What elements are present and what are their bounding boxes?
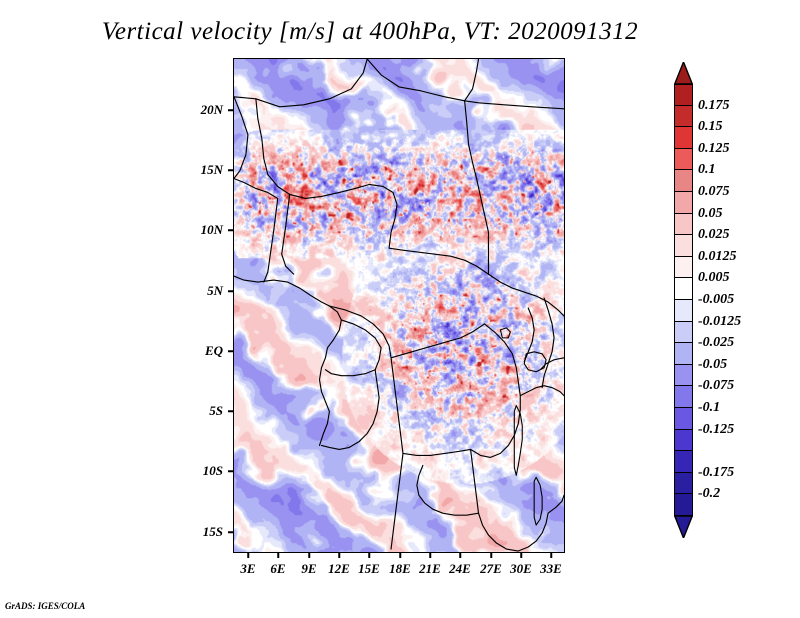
x-tick-label-12e: 12E [328, 561, 350, 577]
country-borders-overlay [234, 59, 564, 552]
colorbar-band [674, 106, 693, 128]
x-tick-label-24e: 24E [449, 561, 471, 577]
colorbar-band [674, 170, 693, 192]
colorbar-band [674, 408, 693, 430]
colorbar-band [674, 300, 693, 322]
x-tick-label-33e: 33E [540, 561, 562, 577]
y-tick-mark [228, 531, 233, 533]
colorbar-band [674, 192, 693, 214]
x-tick-mark [490, 553, 492, 558]
lake-malawi [534, 477, 542, 525]
x-tick-label-27e: 27E [480, 561, 502, 577]
colorbar-band [674, 494, 693, 516]
colorbar-label: 0.15 [698, 119, 723, 135]
colorbar: 0.1750.150.1250.10.0750.050.0250.01250.0… [674, 62, 693, 538]
y-tick-mark [228, 350, 233, 352]
colorbar-band [674, 473, 693, 495]
x-tick-mark [459, 553, 461, 558]
colorbar-band [674, 214, 693, 236]
grads-credit: GrADS: IGES/COLA [5, 601, 85, 611]
y-tick-mark [228, 229, 233, 231]
y-tick-label-5s: 5S [178, 403, 223, 419]
colorbar-band [674, 386, 693, 408]
x-tick-label-18e: 18E [389, 561, 411, 577]
colorbar-band [674, 84, 693, 106]
colorbar-label: -0.025 [698, 335, 734, 351]
y-tick-mark [228, 109, 233, 111]
colorbar-label: -0.2 [698, 486, 720, 502]
y-tick-label-15s: 15S [178, 524, 223, 540]
x-tick-mark [520, 553, 522, 558]
x-tick-mark [277, 553, 279, 558]
x-tick-label-21e: 21E [419, 561, 441, 577]
y-tick-mark [228, 410, 233, 412]
x-tick-label-6e: 6E [270, 561, 285, 577]
colorbar-label: 0.05 [698, 206, 723, 222]
y-tick-label-10n: 10N [178, 222, 223, 238]
colorbar-label: 0.0125 [698, 249, 737, 265]
y-tick-label-eq: EQ [178, 343, 223, 359]
colorbar-label: 0.175 [698, 98, 730, 114]
x-tick-mark [368, 553, 370, 558]
y-tick-label-15n: 15N [178, 162, 223, 178]
colorbar-top-arrow [674, 62, 693, 84]
colorbar-bottom-arrow [674, 516, 693, 538]
colorbar-band [674, 343, 693, 365]
colorbar-band [674, 257, 693, 279]
x-tick-label-15e: 15E [358, 561, 380, 577]
colorbar-band [674, 278, 693, 300]
x-tick-label-9e: 9E [301, 561, 316, 577]
colorbar-label: 0.005 [698, 270, 730, 286]
colorbar-band [674, 235, 693, 257]
colorbar-band [674, 149, 693, 171]
colorbar-label: -0.075 [698, 378, 734, 394]
lake-chad [500, 328, 510, 338]
colorbar-band [674, 430, 693, 452]
colorbar-label: -0.125 [698, 422, 734, 438]
x-tick-mark [247, 553, 249, 558]
x-tick-mark [338, 553, 340, 558]
colorbar-label: 0.125 [698, 141, 730, 157]
x-tick-mark [550, 553, 552, 558]
y-tick-label-20n: 20N [178, 102, 223, 118]
x-tick-label-3e: 3E [240, 561, 255, 577]
colorbar-band [674, 322, 693, 344]
colorbar-band [674, 451, 693, 473]
colorbar-label: 0.075 [698, 184, 730, 200]
page-title: Vertical velocity [m/s] at 400hPa, VT: 2… [0, 18, 740, 46]
y-tick-label-10s: 10S [178, 463, 223, 479]
y-tick-mark [228, 290, 233, 292]
colorbar-label: -0.175 [698, 465, 734, 481]
x-tick-mark [429, 553, 431, 558]
colorbar-label: -0.0125 [698, 314, 741, 330]
colorbar-label: -0.005 [698, 292, 734, 308]
colorbar-band [674, 365, 693, 387]
colorbar-label: 0.1 [698, 162, 716, 178]
colorbar-label: 0.025 [698, 227, 730, 243]
y-tick-mark [228, 470, 233, 472]
y-tick-label-5n: 5N [178, 283, 223, 299]
colorbar-band [674, 127, 693, 149]
lake-tanganyika [514, 406, 522, 476]
colorbar-label: -0.1 [698, 400, 720, 416]
y-tick-mark [228, 169, 233, 171]
x-tick-mark [308, 553, 310, 558]
colorbar-label: -0.05 [698, 357, 727, 373]
map-plot-area [233, 58, 565, 553]
x-tick-label-30e: 30E [510, 561, 532, 577]
x-tick-mark [399, 553, 401, 558]
